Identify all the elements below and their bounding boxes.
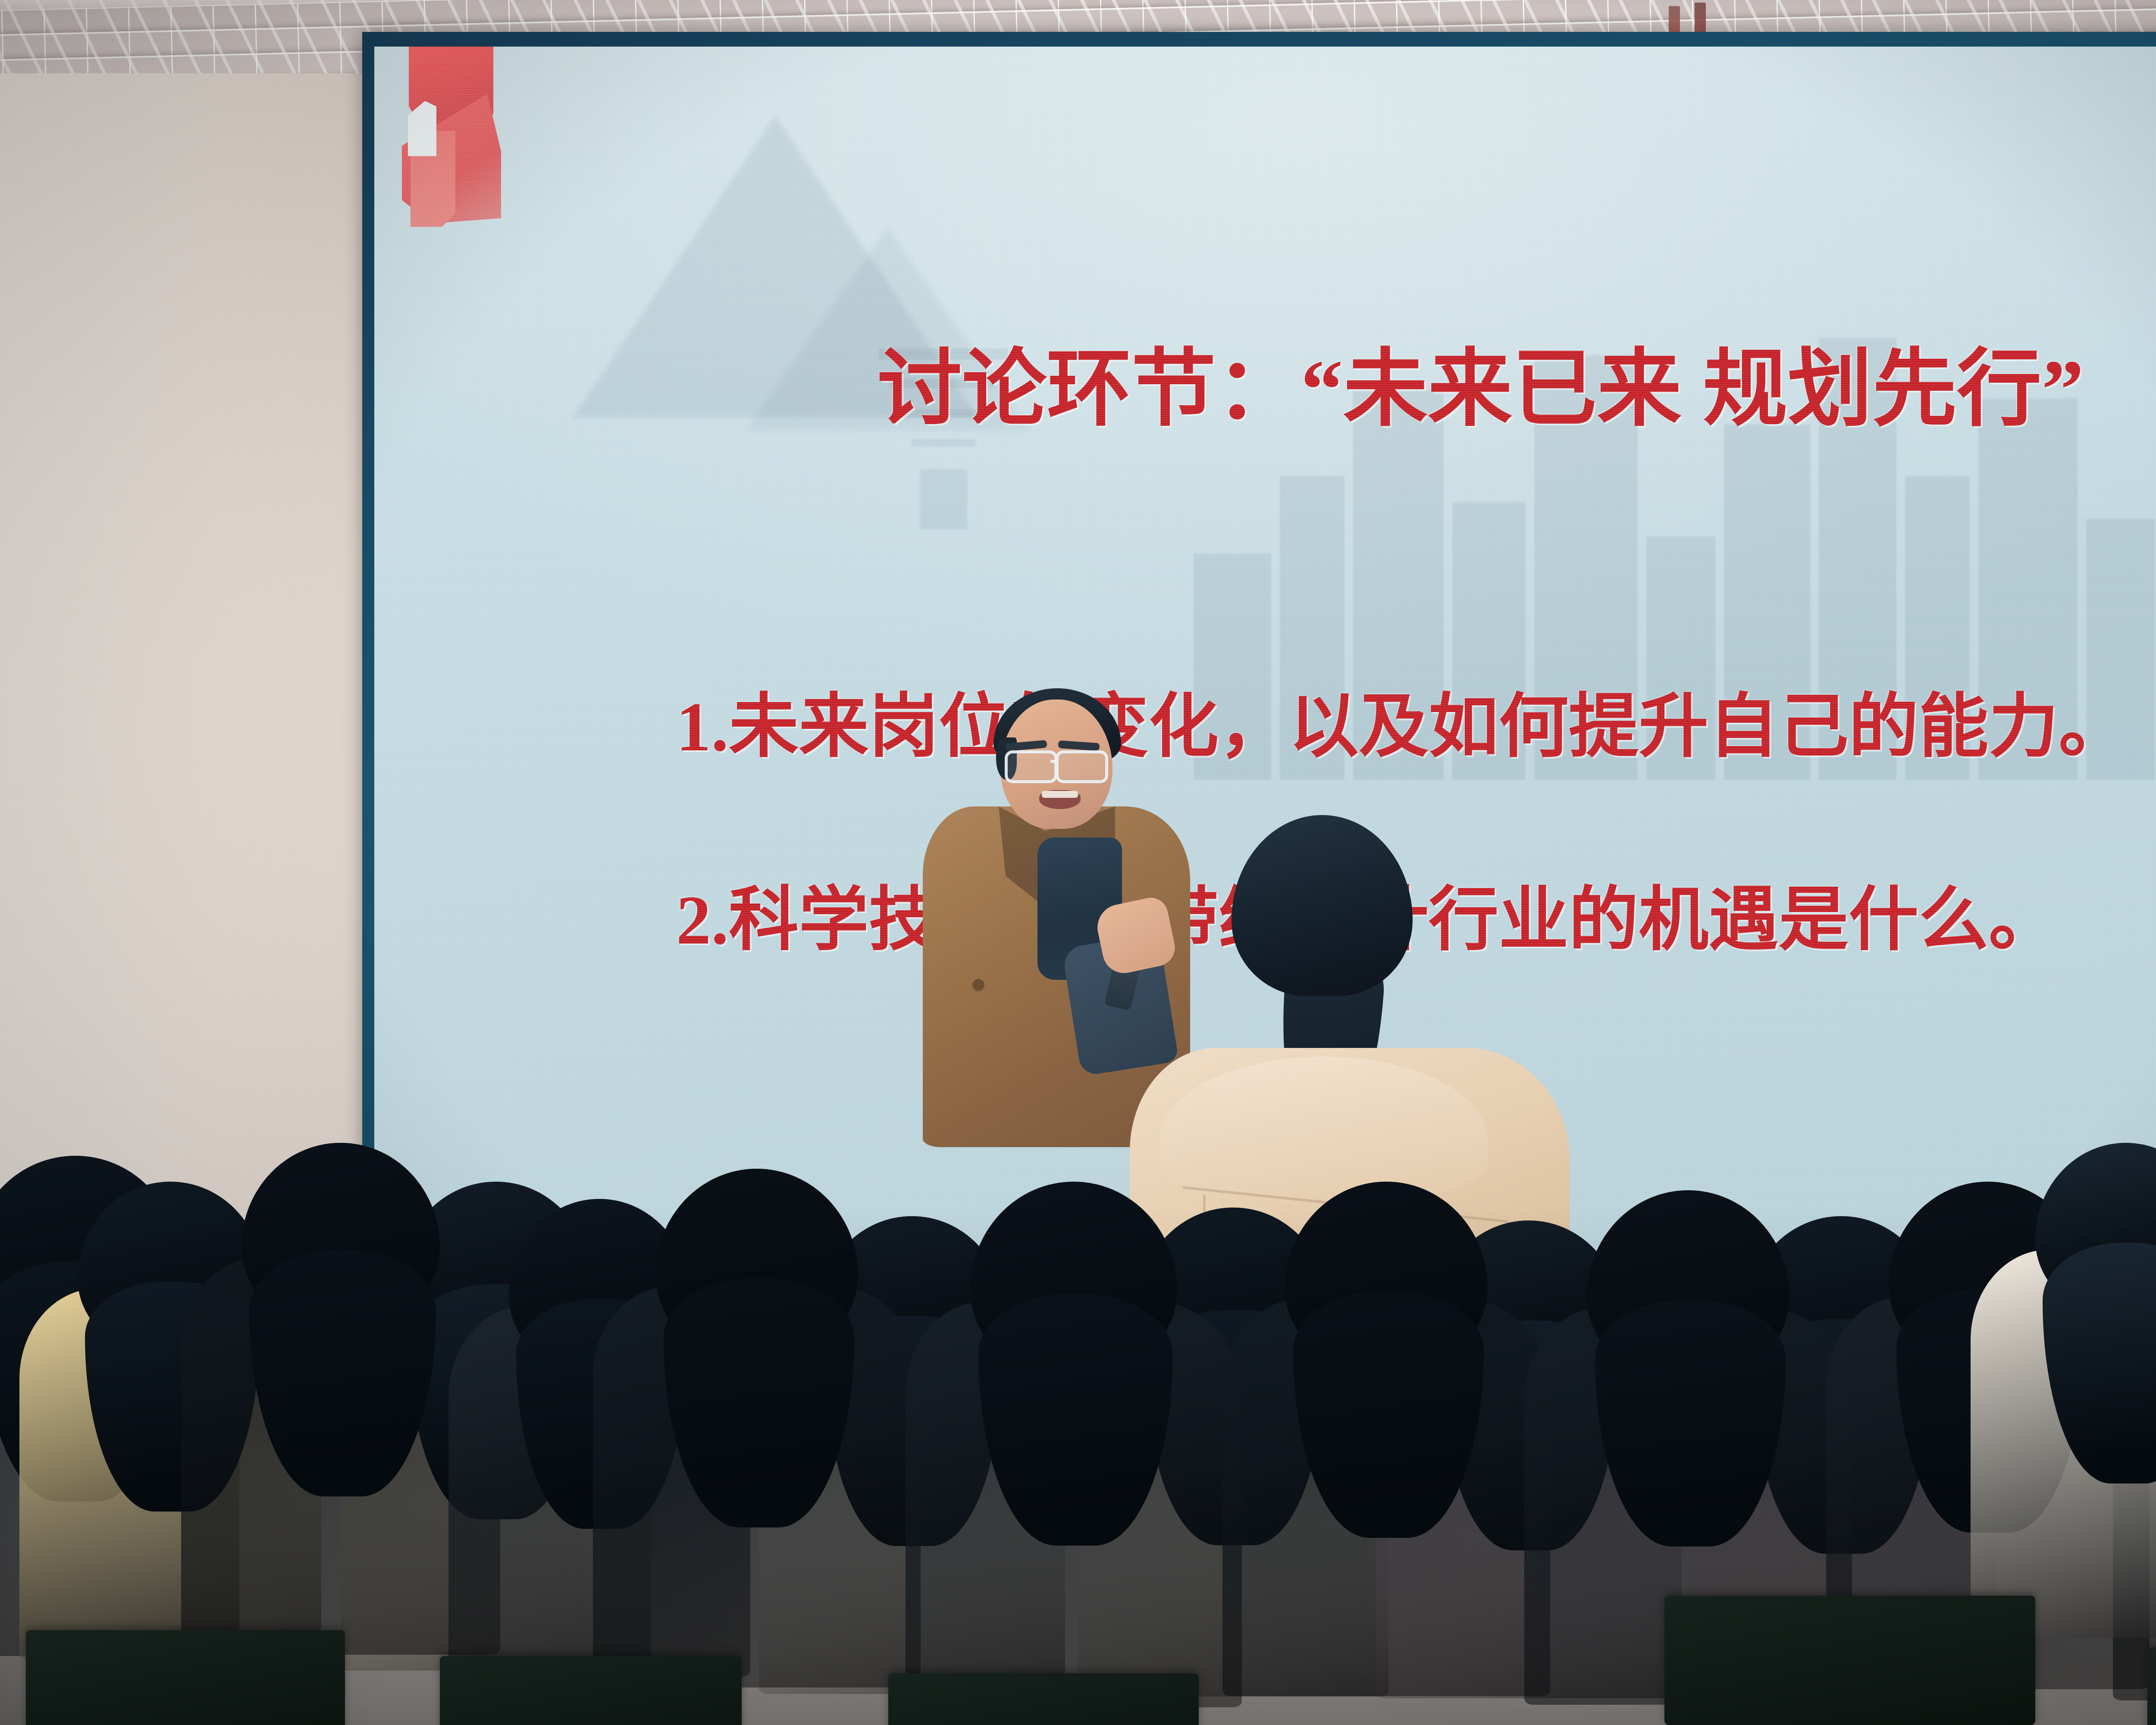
slide-title: 讨论环节：“未来已来 规划先行” xyxy=(374,344,2156,436)
chair-back xyxy=(26,1630,345,1725)
photo-scene: 讨论环节：“未来已来 规划先行” 1.未来岗位的变化，以及如何提升自己的能力。 … xyxy=(0,0,2156,1725)
eyeglasses-icon xyxy=(1056,750,1108,783)
chair-back xyxy=(2147,1647,2156,1725)
chair-back xyxy=(440,1656,742,1725)
chair-back xyxy=(888,1673,1199,1725)
eyeglasses-bridge xyxy=(1050,760,1058,763)
audience-group xyxy=(0,940,2156,1725)
eyeglasses-icon xyxy=(1005,750,1057,783)
chair-back xyxy=(1664,1596,2035,1725)
speaker-teeth xyxy=(1042,791,1078,798)
